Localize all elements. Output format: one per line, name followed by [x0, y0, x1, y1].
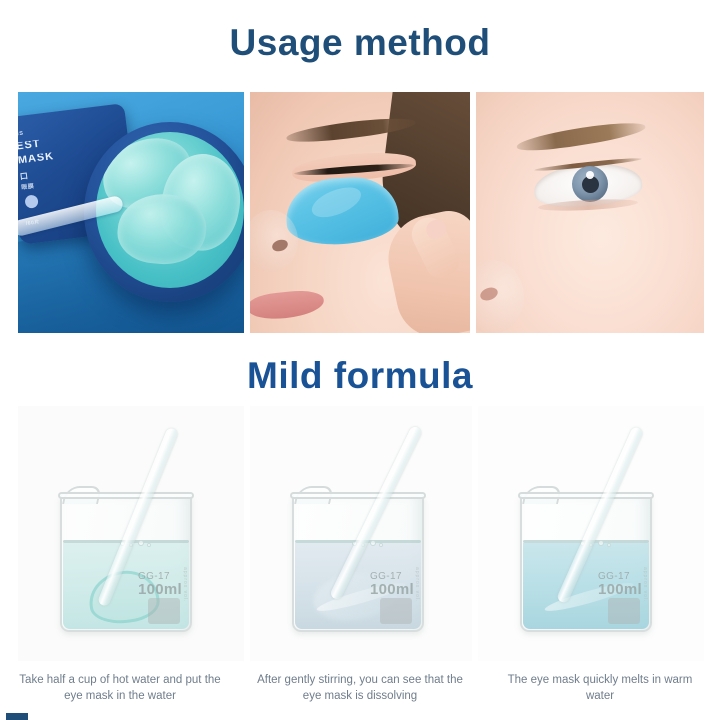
beaker-vertical-mark: approx vol. [414, 567, 420, 602]
product-infographic-page: Usage method NS EST MASK 口 眼膜 /60片 [0, 0, 720, 720]
beaker-vertical-mark: approx vol. [182, 567, 188, 602]
usage-photo-row: NS EST MASK 口 眼膜 /60片 [18, 92, 704, 333]
beaker-step-3: approx vol. GG-17 100ml [478, 406, 704, 661]
bottom-section-marker [6, 713, 28, 720]
beaker-frosted-panel [148, 598, 180, 624]
page-title-usage-method: Usage method [0, 22, 720, 64]
beaker-step-1: approx vol. GG-17 100ml [18, 406, 244, 661]
page-title-mild-formula: Mild formula [0, 355, 720, 397]
beaker-vertical-mark: approx vol. [642, 567, 648, 602]
beaker-graphic: approx vol. GG-17 100ml [60, 480, 192, 632]
beaker-rim [58, 492, 194, 499]
photo-result-eye [476, 92, 704, 333]
caption-step-2: After gently stirring, you can see that … [240, 672, 480, 716]
beaker-graphic: approx vol. GG-17 100ml [520, 480, 652, 632]
caption-step-1: Take half a cup of hot water and put the… [0, 672, 240, 716]
beaker-rim [518, 492, 654, 499]
beaker-markings: GG-17 100ml [598, 572, 642, 598]
caption-row: Take half a cup of hot water and put the… [0, 672, 720, 716]
beaker-frosted-panel [608, 598, 640, 624]
caption-step-3: The eye mask quickly melts in warm water [480, 672, 720, 716]
beaker-rim [290, 492, 426, 499]
beaker-volume: 100ml [370, 582, 414, 598]
eye-highlight [586, 171, 594, 179]
beaker-volume: 100ml [598, 582, 642, 598]
photo-applying-patch [250, 92, 470, 333]
beaker-markings: GG-17 100ml [370, 572, 414, 598]
beaker-demo-row: approx vol. GG-17 100ml [18, 406, 704, 661]
beaker-frosted-panel [380, 598, 412, 624]
beaker-markings: GG-17 100ml [138, 572, 182, 598]
photo-product-jar: NS EST MASK 口 眼膜 /60片 [18, 92, 244, 333]
beaker-graphic: approx vol. GG-17 100ml [292, 480, 424, 632]
jar-label-dot [24, 194, 38, 208]
beaker-volume: 100ml [138, 582, 182, 598]
beaker-step-2: approx vol. GG-17 100ml [250, 406, 472, 661]
